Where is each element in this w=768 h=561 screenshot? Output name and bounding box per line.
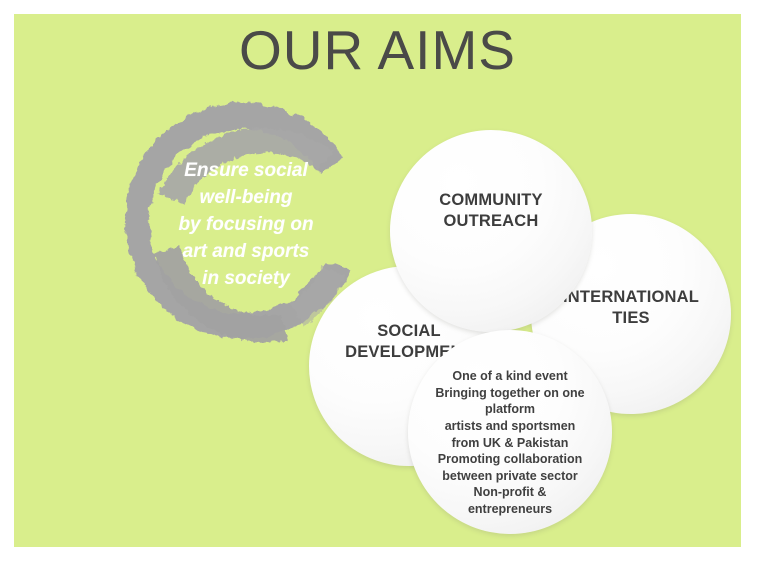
- detail-line: between private sector: [426, 468, 594, 485]
- bubble-label-line: OUTREACH: [390, 211, 592, 232]
- bubble-community-outreach-label: COMMUNITY OUTREACH: [390, 190, 592, 232]
- detail-line: Bringing together on one: [426, 385, 594, 402]
- bubble-label-line: COMMUNITY: [390, 190, 592, 211]
- mission-line: in society: [146, 266, 346, 293]
- mission-line: by focusing on: [146, 212, 346, 239]
- slide-background: OUR AIMS: [14, 14, 741, 547]
- bubble-event-details[interactable]: One of a kind event Bringing together on…: [408, 330, 612, 534]
- mission-line: art and sports: [146, 239, 346, 266]
- detail-line: Non-profit &: [426, 484, 594, 501]
- detail-line: Promoting collaboration: [426, 451, 594, 468]
- mission-line: well-being: [146, 185, 346, 212]
- bubble-community-outreach[interactable]: COMMUNITY OUTREACH: [390, 130, 592, 332]
- detail-line: platform: [426, 401, 594, 418]
- slide-canvas: OUR AIMS: [0, 0, 768, 561]
- page-title: OUR AIMS: [14, 22, 741, 80]
- detail-line: One of a kind event: [426, 368, 594, 385]
- detail-line: from UK & Pakistan: [426, 435, 594, 452]
- bubble-event-details-text: One of a kind event Bringing together on…: [408, 368, 612, 518]
- mission-line: Ensure social: [146, 158, 346, 185]
- mission-statement: Ensure social well-being by focusing on …: [146, 158, 346, 293]
- detail-line: entrepreneurs: [426, 501, 594, 518]
- detail-line: artists and sportsmen: [426, 418, 594, 435]
- bubble-label-line: TIES: [531, 308, 731, 329]
